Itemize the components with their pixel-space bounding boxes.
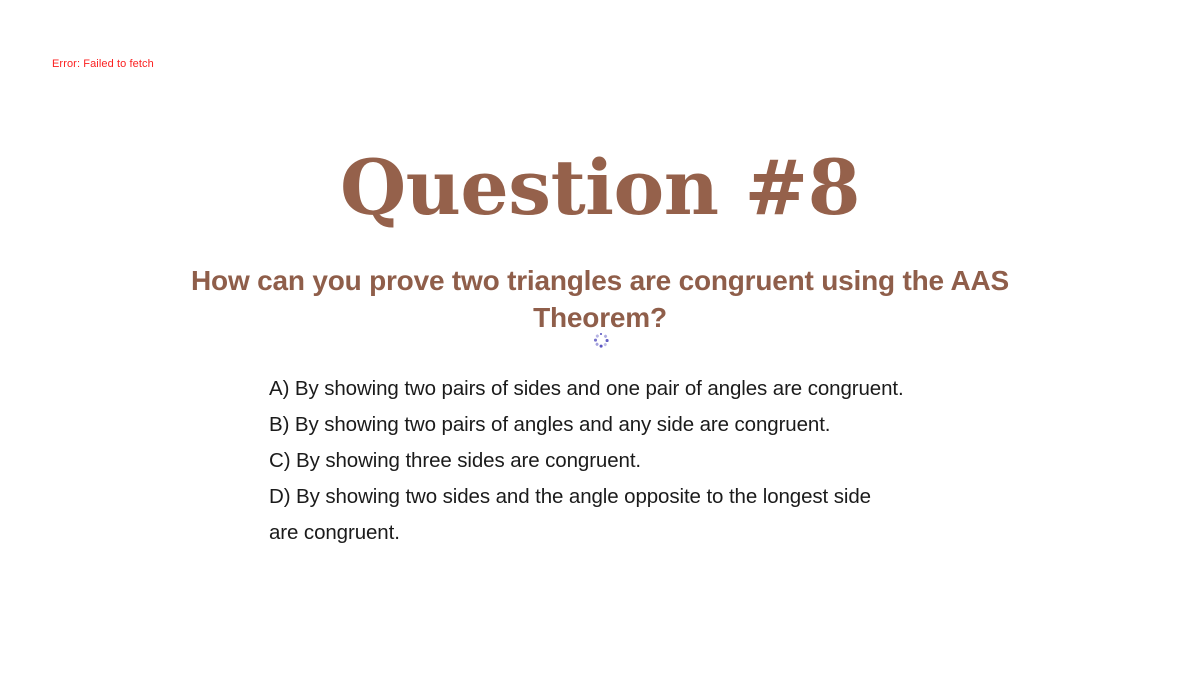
error-message: Error: Failed to fetch	[52, 57, 154, 71]
answer-option-c[interactable]: C) By showing three sides are congruent.	[269, 443, 969, 479]
spinner-dot	[600, 333, 603, 336]
answer-option-a[interactable]: A) By showing two pairs of sides and one…	[269, 371, 969, 407]
page-title: Question #8	[0, 142, 1200, 234]
spinner-dot	[595, 342, 599, 346]
loading-spinner-icon	[593, 332, 609, 348]
spinner-dot	[595, 334, 599, 338]
answer-option-b[interactable]: B) By showing two pairs of angles and an…	[269, 407, 969, 443]
spinner-dot	[603, 342, 607, 346]
answer-option-d[interactable]: D) By showing two sides and the angle op…	[269, 479, 969, 551]
answer-list: A) By showing two pairs of sides and one…	[269, 371, 969, 551]
spinner-dot	[600, 345, 603, 348]
spinner-dot	[594, 339, 597, 342]
spinner-dot	[606, 339, 609, 342]
question-slide: Error: Failed to fetch Question #8 How c…	[0, 0, 1200, 675]
question-prompt: How can you prove two triangles are cong…	[186, 262, 1014, 336]
spinner-dot	[603, 334, 607, 338]
